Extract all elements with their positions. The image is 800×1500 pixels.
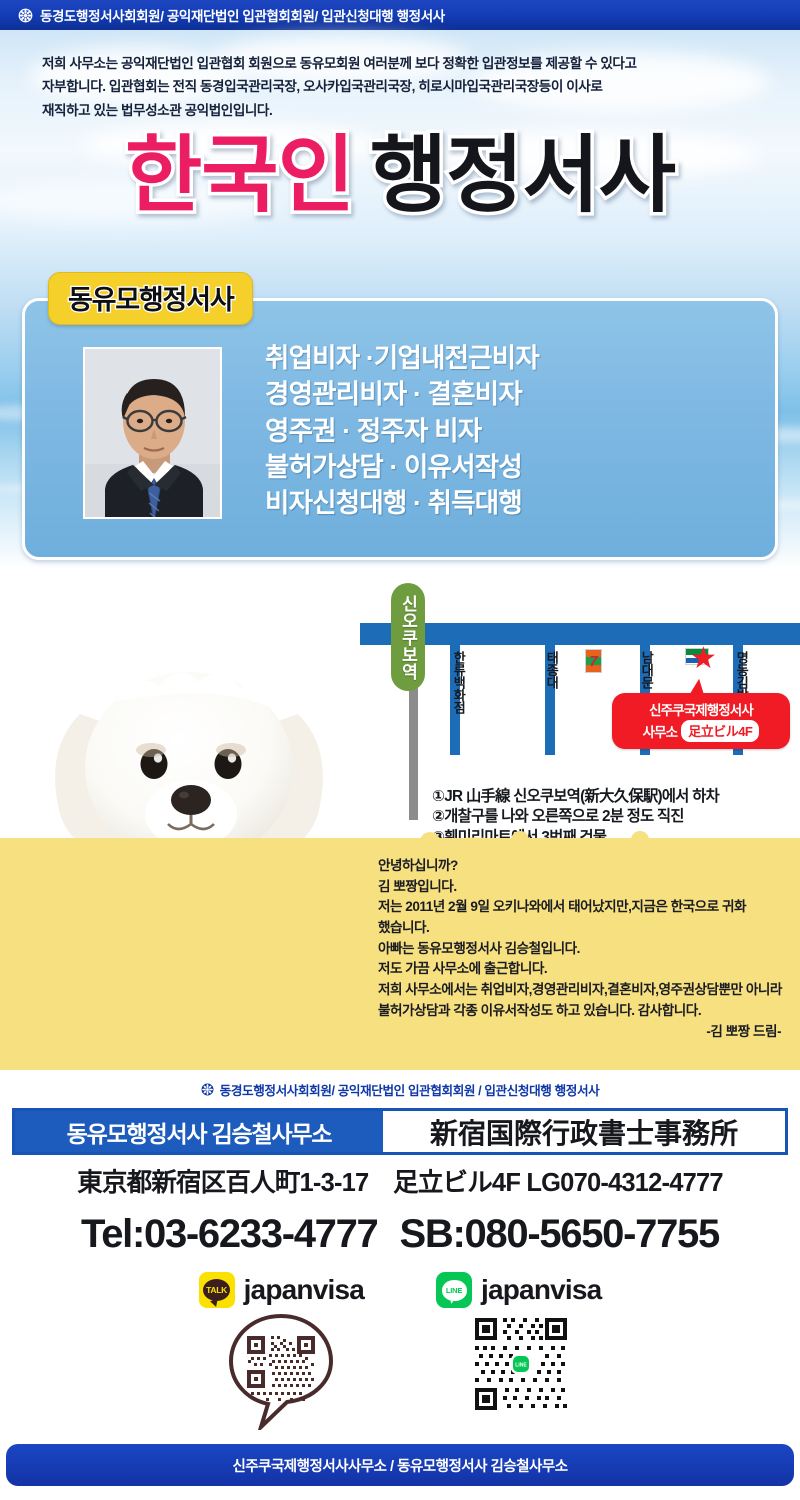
office-address: 東京都新宿区百人町1-3-17 足立ビル4F LG070-4312-4777 xyxy=(0,1162,800,1199)
office-name-bar: 동유모행정서사 김승철사무소 新宿国際行政書士事務所 xyxy=(12,1108,788,1155)
page-title-part-1: 한국인 xyxy=(125,133,354,219)
kakaotalk-icon[interactable]: TALK xyxy=(199,1272,235,1308)
line-icon-label: LINE xyxy=(442,1280,467,1301)
intro-line-2: 자부합니다. 입관협회는 전직 동경입국관리국장, 오사카입국관리국장, 히로시… xyxy=(42,75,772,98)
svg-text:LINE: LINE xyxy=(515,1363,527,1369)
page-title-part-2: 행정서사 xyxy=(370,133,675,219)
bubble-line-3: 저는 2011년 2월 9일 오키나와에서 태어났지만,지금은 한국으로 귀화 xyxy=(378,897,793,918)
service-item-1: 경영관리비자 · 결혼비자 xyxy=(265,376,765,412)
kakaotalk-qr-svg xyxy=(229,1314,333,1430)
avatar xyxy=(83,347,222,519)
line-qr-svg: LINE xyxy=(471,1314,571,1414)
line-qr-code[interactable]: LINE xyxy=(471,1314,571,1414)
intro-line-3: 재직하고 있는 법무성소관 공익법인입니다. xyxy=(42,99,772,122)
bottom-bar: 신주쿠국제행정서사사무소 / 동유모행정서사 김승철사무소 xyxy=(6,1444,794,1486)
seven-eleven-icon: 7 xyxy=(585,649,602,673)
poster-root: 동경도행정서사회회원/ 공익재단법인 입관협회회원/ 입관신청대행 행정서사 저… xyxy=(0,0,800,1500)
kakaotalk-icon-label: TALK xyxy=(203,1279,230,1301)
office-name-japanese: 新宿国際行政書士事務所 xyxy=(383,1111,785,1152)
station-label: 신오쿠보역 xyxy=(396,595,421,680)
kakaotalk-contact[interactable]: TALK japanvisa xyxy=(199,1272,364,1308)
callout-line-2: 사무소 xyxy=(643,721,678,741)
page-title: 한국인행정서사 xyxy=(0,133,800,219)
line-contact[interactable]: LINE japanvisa xyxy=(436,1272,601,1308)
office-callout: 신주쿠국제행정서사 사무소 足立ビル4F xyxy=(612,693,790,749)
qr-code-row: LINE xyxy=(0,1314,800,1430)
callout-building-pill: 足立ビル4F xyxy=(681,720,759,742)
dog-message-text: 안녕하십니까? 김 뽀짱입니다. 저는 2011년 2월 9일 오키나와에서 태… xyxy=(378,856,793,1043)
office-badge: 동유모행정서사 xyxy=(48,272,253,325)
service-item-0: 취업비자 ·기업내전근비자 xyxy=(265,340,765,376)
bubble-line-4: 했습니다. xyxy=(378,918,793,939)
bubble-line-2: 김 뽀짱입니다. xyxy=(378,877,793,898)
direction-step-2: ②개찰구를 나와 오른쪽으로 2분 정도 직진 xyxy=(432,807,800,827)
bottom-bar-text: 신주쿠국제행정서사사무소 / 동유모행정서사 김승철사무소 xyxy=(232,1455,567,1476)
office-name-korean: 동유모행정서사 김승철사무소 xyxy=(15,1111,383,1152)
portrait-photo xyxy=(85,349,222,519)
line-id: japanvisa xyxy=(481,1274,601,1306)
phone-numbers: Tel:03-6233-4777SB:080-5650-7755 xyxy=(0,1212,800,1257)
kakaotalk-id: japanvisa xyxy=(244,1274,364,1306)
service-item-2: 영주권 · 정주자 비자 xyxy=(265,413,765,449)
top-membership-bar: 동경도행정서사회회원/ 공익재단법인 입관협회회원/ 입관신청대행 행정서사 xyxy=(0,0,800,30)
map-label-taejongdae: 태종대 xyxy=(545,651,558,689)
bubble-line-8: 불허가상담과 각종 이유서작성도 하고 있습니다. 감사합니다. xyxy=(378,1001,793,1022)
flower-emblem-icon xyxy=(201,1083,214,1096)
bubble-line-7: 저희 사무소에서는 취업비자,경영관리비자,결혼비자,영주권상담뿐만 아니라 xyxy=(378,980,793,1001)
kakaotalk-qr-code[interactable] xyxy=(229,1314,333,1430)
callout-line-1: 신주쿠국제행정서사 xyxy=(620,699,782,719)
phone-sb[interactable]: SB:080-5650-7755 xyxy=(400,1212,719,1256)
station-marker: 신오쿠보역 xyxy=(391,583,425,691)
bubble-line-5: 아빠는 동유모행정서사 김승철입니다. xyxy=(378,939,793,960)
services-list: 취업비자 ·기업내전근비자 경영관리비자 · 결혼비자 영주권 · 정주자 비자… xyxy=(265,340,765,521)
service-item-3: 불허가상담 · 이유서작성 xyxy=(265,449,765,485)
footer-membership-line: 동경도행정서사회회원/ 공익재단법인 입관협회회원 / 입관신청대행 행정서사 xyxy=(0,1080,800,1099)
service-item-4: 비자신청대행 · 취득대행 xyxy=(265,485,765,521)
direction-step-1: ①JR 山手線 신오쿠보역(新大久保駅)에서 하차 xyxy=(432,787,800,807)
flower-emblem-icon xyxy=(18,8,33,23)
map-label-namdaemun: 남대문 xyxy=(640,651,653,689)
phone-tel[interactable]: Tel:03-6233-4777 xyxy=(81,1212,377,1256)
intro-line-1: 저희 사무소는 공익재단법인 입관협회 회원으로 동유모회원 여러분께 보다 정… xyxy=(42,52,772,75)
top-membership-text: 동경도행정서사회회원/ 공익재단법인 입관협회회원/ 입관신청대행 행정서사 xyxy=(40,5,445,25)
footer-membership-text: 동경도행정서사회회원/ 공익재단법인 입관협회회원 / 입관신청대행 행정서사 xyxy=(220,1080,600,1099)
bubble-line-6: 저도 가끔 사무소에 출근합니다. xyxy=(378,959,793,980)
map-label-hanryu-department-store: 한류백화점 xyxy=(452,651,465,714)
intro-paragraph: 저희 사무소는 공익재단법인 입관협회 회원으로 동유모회원 여러분께 보다 정… xyxy=(42,52,772,122)
line-icon[interactable]: LINE xyxy=(436,1272,472,1308)
bubble-signature: -김 뽀짱 드림- xyxy=(378,1022,793,1043)
map-main-road xyxy=(360,623,800,645)
social-row: TALK japanvisa LINE japanvisa xyxy=(0,1272,800,1308)
bubble-line-1: 안녕하십니까? xyxy=(378,856,793,877)
